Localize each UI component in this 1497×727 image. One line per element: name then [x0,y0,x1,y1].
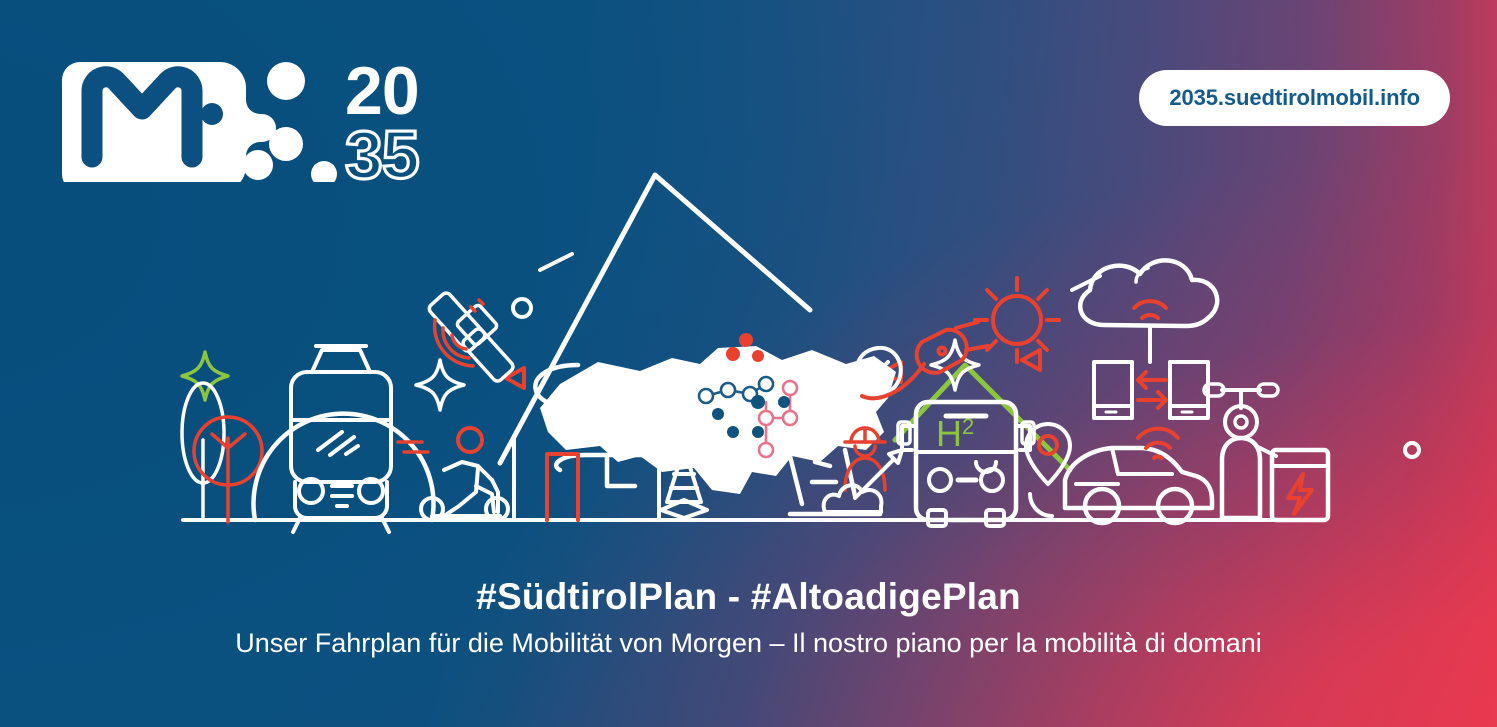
satellite-icon [427,291,515,383]
bus-hydrogen-label: H2 [936,413,974,454]
charging-station-icon [1272,450,1328,520]
car-wifi-icon [1065,429,1212,523]
e-scooter-icon [1204,384,1278,518]
tram-icon [253,346,433,532]
doorway-icon [547,454,578,520]
subtitle-line: Unser Fahrplan für die Mobilität von Mor… [0,627,1497,659]
device-sync-icon [1094,362,1208,418]
campaign-banner: 20 35 2035.suedtirolmobil.info [0,0,1497,727]
caption-block: #SüdtirolPlan - #AltoadigePlan Unser Fah… [0,575,1497,660]
sun-icon [975,278,1059,362]
tree-icon [182,383,224,520]
hashtag-line: #SüdtirolPlan - #AltoadigePlan [0,575,1497,619]
mobility-illustration: H2 [0,150,1497,550]
website-url-label: 2035.suedtirolmobil.info [1169,85,1420,111]
website-url-badge[interactable]: 2035.suedtirolmobil.info [1139,70,1450,126]
